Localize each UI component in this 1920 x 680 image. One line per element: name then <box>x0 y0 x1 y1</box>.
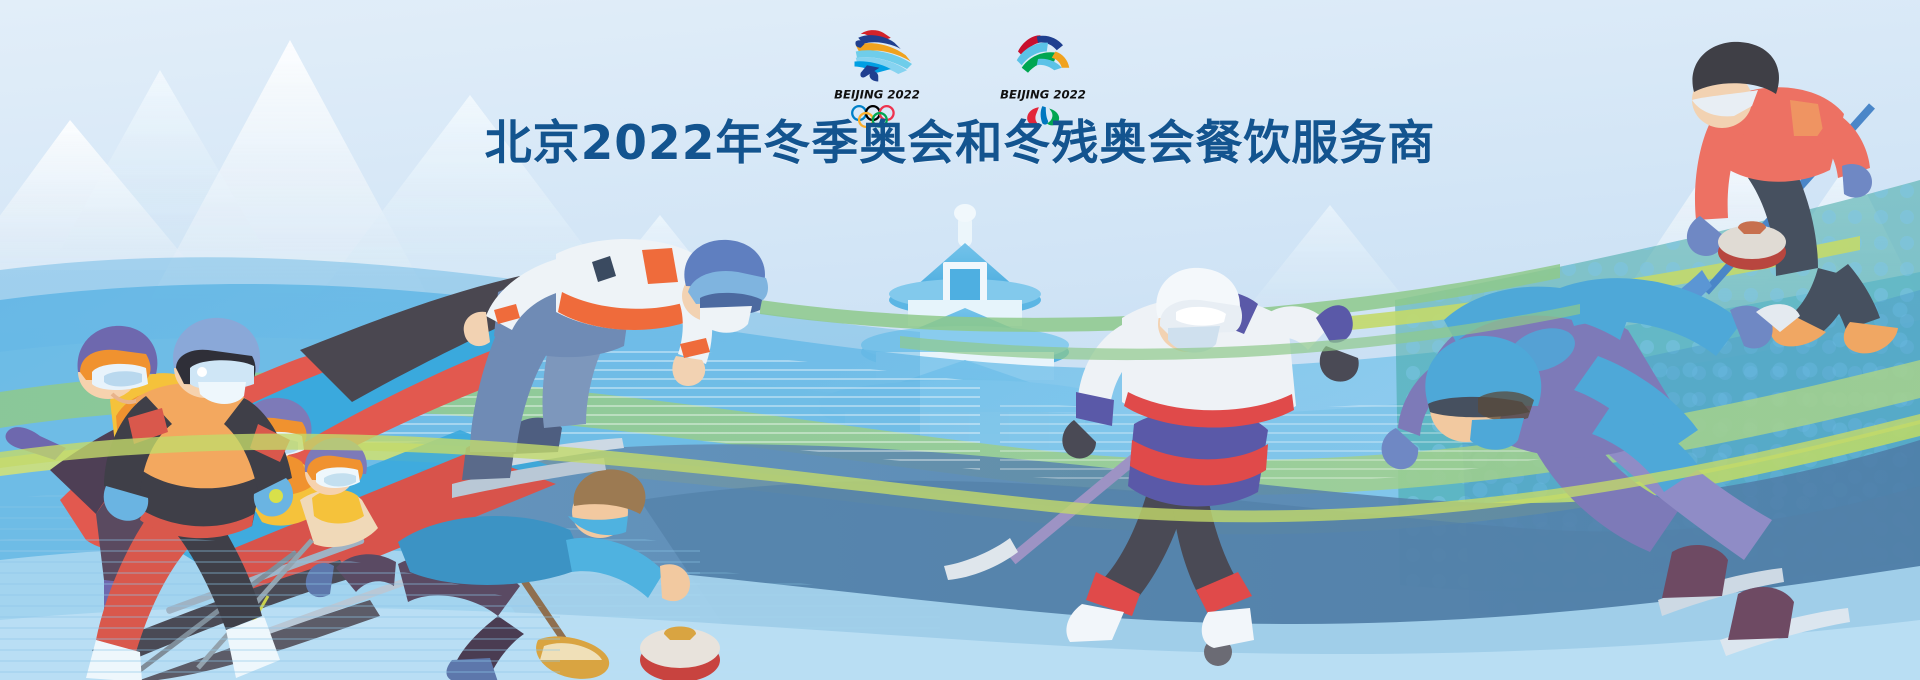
paralympic-wordmark: BEIJING 2022 <box>993 87 1093 102</box>
winter-dream-olympic-emblem-icon <box>831 24 923 84</box>
banner-title: 北京2022年冬季奥会和冬残奥会餐饮服务商 <box>485 120 1436 167</box>
emblem-paralympic: BEIJING 2022 <box>989 24 1097 128</box>
olympic-banner: BEIJING 2022 <box>0 0 1920 680</box>
emblem-row: BEIJING 2022 <box>0 24 1920 128</box>
svg-text:BEIJING 2022: BEIJING 2022 <box>834 88 920 102</box>
banner-title-wrap: 北京2022年冬季奥会和冬残奥会餐饮服务商 <box>0 120 1920 167</box>
flying-high-paralympic-emblem-icon <box>997 24 1089 84</box>
emblem-olympic: BEIJING 2022 <box>823 24 931 128</box>
svg-text:BEIJING 2022: BEIJING 2022 <box>1000 88 1086 102</box>
olympic-wordmark: BEIJING 2022 <box>827 87 927 102</box>
